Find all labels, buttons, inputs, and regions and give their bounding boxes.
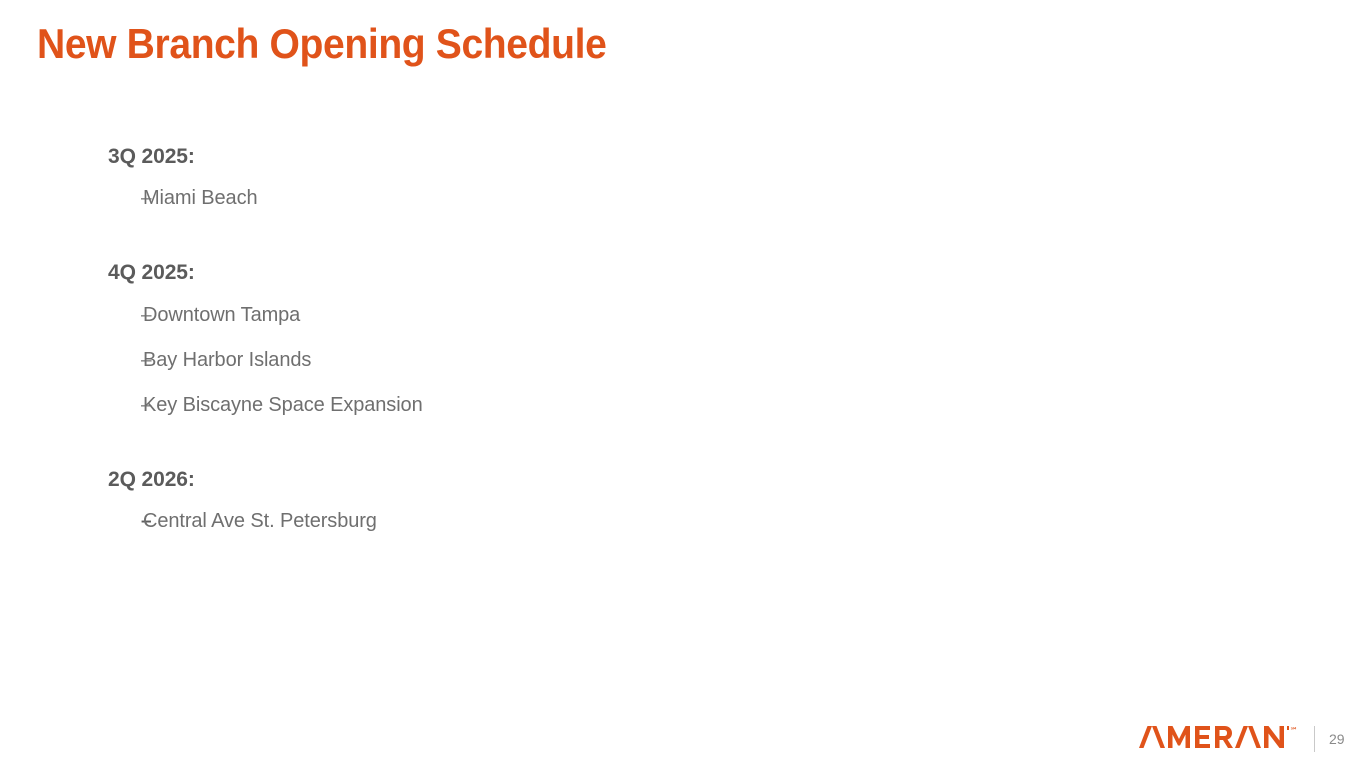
dash-bullet-icon: – [108, 189, 143, 208]
dash-bullet-icon: – [108, 512, 143, 531]
list-item: – Bay Harbor Islands [108, 348, 1008, 376]
dash-bullet-icon: – [108, 351, 143, 370]
quarter-group: 2Q 2026: – Central Ave St. Petersburg [108, 467, 1008, 537]
branch-name: Key Biscayne Space Expansion [143, 393, 423, 417]
page-title: New Branch Opening Schedule [37, 20, 606, 68]
slide-footer: ℠ 29 [1139, 722, 1347, 756]
list-item: – Miami Beach [108, 186, 1008, 214]
trademark-icon: ℠ [1290, 727, 1298, 735]
quarter-heading: 2Q 2026: [108, 467, 1008, 493]
list-item: – Downtown Tampa [108, 303, 1008, 331]
branch-list: – Downtown Tampa – Bay Harbor Islands – … [108, 303, 1008, 421]
branch-name: Downtown Tampa [143, 303, 300, 327]
branch-list: – Central Ave St. Petersburg [108, 509, 1008, 537]
branch-name: Miami Beach [143, 186, 258, 210]
branch-list: – Miami Beach [108, 186, 1008, 214]
amerant-logo-icon [1139, 726, 1289, 748]
list-item: – Key Biscayne Space Expansion [108, 393, 1008, 421]
slide-canvas: New Branch Opening Schedule 3Q 2025: – M… [0, 0, 1365, 768]
quarter-group: 4Q 2025: – Downtown Tampa – Bay Harbor I… [108, 260, 1008, 420]
quarter-group: 3Q 2025: – Miami Beach [108, 144, 1008, 214]
branch-name: Bay Harbor Islands [143, 348, 311, 372]
branch-name: Central Ave St. Petersburg [143, 509, 377, 533]
amerant-logo: ℠ [1139, 726, 1298, 752]
quarter-heading: 3Q 2025: [108, 144, 1008, 170]
list-item: – Central Ave St. Petersburg [108, 509, 1008, 537]
page-number: 29 [1329, 732, 1347, 746]
dash-bullet-icon: – [108, 396, 143, 415]
schedule-content: 3Q 2025: – Miami Beach 4Q 2025: – Downto… [108, 144, 1008, 537]
footer-divider [1314, 726, 1315, 752]
quarter-heading: 4Q 2025: [108, 260, 1008, 286]
dash-bullet-icon: – [108, 306, 143, 325]
